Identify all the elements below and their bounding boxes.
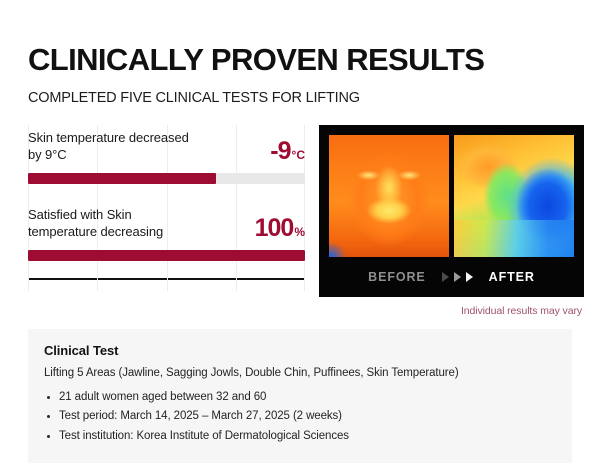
thermal-column: BEFORE AFTER Individual results may vary — [319, 125, 584, 317]
stat-head: Skin temperature decreased by 9°C -9 °C — [28, 129, 305, 164]
arrow-right-icon — [466, 272, 473, 282]
list-item: Test institution: Korea Institute of Der… — [44, 427, 556, 447]
stat-value-number: -9 — [270, 139, 290, 164]
main-row: Skin temperature decreased by 9°C -9 °C … — [28, 125, 572, 317]
stat-satisfaction: Satisfied with Skin temperature decreasi… — [28, 206, 305, 261]
thermal-panel: BEFORE AFTER — [319, 125, 584, 297]
stat-label: Satisfied with Skin temperature decreasi… — [28, 206, 198, 241]
progress-fill — [28, 250, 305, 261]
stat-value: 100 % — [255, 216, 305, 241]
thermal-image-before — [329, 135, 449, 257]
progress-fill — [28, 173, 216, 184]
stat-value-unit: °C — [292, 149, 305, 161]
before-label: BEFORE — [368, 270, 426, 284]
arrow-right-icon — [442, 272, 449, 282]
stat-head: Satisfied with Skin temperature decreasi… — [28, 206, 305, 241]
list-item: Test period: March 14, 2025 – March 27, … — [44, 407, 556, 427]
infographic-root: CLINICALLY PROVEN RESULTS COMPLETED FIVE… — [0, 0, 600, 450]
progress-track — [28, 173, 305, 184]
section-divider — [28, 278, 305, 280]
stats-column: Skin temperature decreased by 9°C -9 °C … — [28, 125, 305, 280]
arrow-right-icon — [454, 272, 461, 282]
clinical-test-title: Clinical Test — [44, 343, 556, 358]
stat-value: -9 °C — [270, 139, 305, 164]
progress-track — [28, 250, 305, 261]
clinical-test-box: Clinical Test Lifting 5 Areas (Jawline, … — [28, 329, 572, 463]
page-subtitle: COMPLETED FIVE CLINICAL TESTS FOR LIFTIN… — [28, 77, 572, 106]
stat-value-number: 100 — [255, 216, 294, 241]
stat-skin-temperature: Skin temperature decreased by 9°C -9 °C — [28, 129, 305, 184]
thermal-images — [329, 135, 574, 257]
list-item: 21 adult women aged between 32 and 60 — [44, 388, 556, 408]
clinical-test-subtitle: Lifting 5 Areas (Jawline, Sagging Jowls,… — [44, 367, 556, 379]
panel-caption: BEFORE AFTER — [329, 257, 574, 297]
stat-value-unit: % — [294, 226, 305, 238]
thermal-image-after — [454, 135, 574, 257]
disclaimer-text: Individual results may vary — [319, 305, 584, 317]
clinical-test-list: 21 adult women aged between 32 and 60 Te… — [44, 388, 556, 447]
after-label: AFTER — [489, 270, 535, 284]
arrow-group — [442, 272, 473, 282]
page-title: CLINICALLY PROVEN RESULTS — [28, 0, 572, 77]
stat-label: Skin temperature decreased by 9°C — [28, 129, 198, 164]
